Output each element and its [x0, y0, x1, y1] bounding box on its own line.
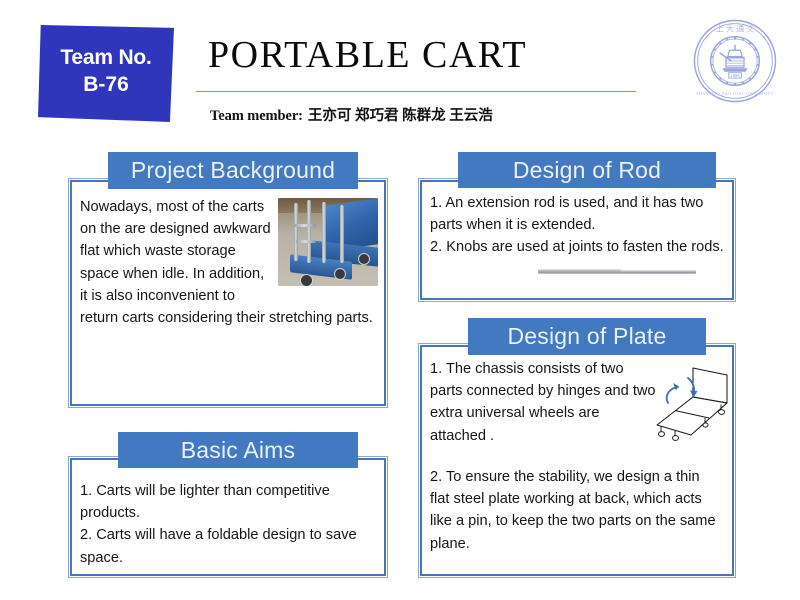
- poster-canvas: Team No. B-76 PORTABLE CART Team member:…: [0, 0, 800, 600]
- body-design-of-plate-1: 1. The chassis consists of two parts con…: [430, 358, 658, 447]
- plate-item-1: 1. The chassis consists of two parts con…: [430, 358, 658, 447]
- heading-project-background: Project Background: [108, 152, 358, 189]
- svg-text:上 大 通 交: 上 大 通 交: [716, 23, 754, 33]
- team-badge-line1: Team No.: [60, 45, 151, 71]
- aims-item-2: 2. Carts will have a foldable design to …: [80, 524, 380, 568]
- body-design-of-plate-2: 2. To ensure the stability, we design a …: [430, 466, 720, 555]
- page-title: PORTABLE CART: [208, 33, 527, 77]
- university-seal-icon: 1896 上 大 通 交 SHANGHAI JIAO TONG UNIVERSI…: [690, 16, 780, 106]
- rod-item-1: 1. An extension rod is used, and it has …: [430, 192, 730, 236]
- title-divider: [196, 91, 636, 92]
- heading-design-of-plate: Design of Plate: [468, 318, 706, 355]
- svg-text:1896: 1896: [730, 73, 740, 78]
- aims-item-1: 1. Carts will be lighter than competitiv…: [80, 480, 380, 524]
- body-basic-aims: 1. Carts will be lighter than competitiv…: [80, 480, 380, 569]
- extension-rod-illustration: [538, 268, 696, 275]
- svg-text:SHANGHAI JIAO TONG UNIVERSITY: SHANGHAI JIAO TONG UNIVERSITY: [696, 91, 773, 96]
- platform-cart-photo: [278, 198, 378, 286]
- heading-basic-aims: Basic Aims: [118, 432, 358, 468]
- heading-design-of-rod: Design of Rod: [458, 152, 716, 188]
- folding-plate-diagram: [648, 356, 734, 444]
- team-number-badge: Team No. B-76: [38, 25, 174, 122]
- rod-item-2: 2. Knobs are used at joints to fasten th…: [430, 236, 730, 258]
- team-member-line: Team member:王亦可 郑巧君 陈群龙 王云浩: [210, 104, 493, 125]
- team-badge-line2: B-76: [83, 71, 129, 99]
- plate-item-2: 2. To ensure the stability, we design a …: [430, 466, 720, 555]
- body-project-background: Nowadays, most of the carts on the are d…: [80, 196, 378, 329]
- team-member-label: Team member:: [210, 108, 303, 124]
- team-member-names: 王亦可 郑巧君 陈群龙 王云浩: [308, 108, 493, 124]
- body-design-of-rod: 1. An extension rod is used, and it has …: [430, 192, 730, 259]
